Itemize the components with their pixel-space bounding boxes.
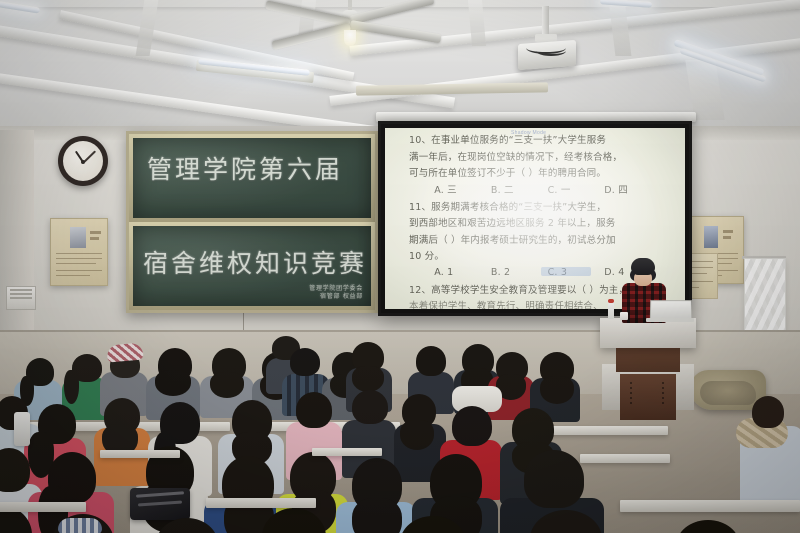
desk bbox=[100, 450, 180, 458]
poster-text-line bbox=[56, 263, 96, 264]
clock-center bbox=[81, 160, 85, 164]
slide-option: A. 1 bbox=[434, 265, 491, 280]
blackboard: 管理学院第六届 宿舍维权知识竞赛 管理学院团学委会 宿管部 权益部 bbox=[126, 131, 378, 313]
breaker-slot bbox=[10, 297, 32, 299]
poster-title-bar bbox=[723, 236, 731, 239]
water-bottle-cap bbox=[608, 299, 614, 303]
blackboard-frame-top: 管理学院第六届 bbox=[129, 134, 375, 222]
blackboard-panel-bottom: 宿舍维权知识竞赛 管理学院团学委会 宿管部 权益部 bbox=[133, 226, 371, 306]
slide-selection-highlight bbox=[541, 267, 591, 275]
breaker-slot bbox=[10, 289, 32, 291]
podium-laptop-base bbox=[646, 318, 694, 322]
light-fixture-frame bbox=[356, 82, 548, 95]
poster-portrait-photo bbox=[704, 226, 718, 248]
desk bbox=[206, 498, 316, 508]
blackboard-headline: 管理学院第六届 bbox=[147, 150, 343, 186]
audience-cap bbox=[106, 342, 143, 362]
slide-option: C. 一 bbox=[548, 183, 605, 198]
fan-light bbox=[344, 30, 356, 46]
audience bbox=[0, 330, 800, 533]
poster-title-bar bbox=[90, 231, 101, 234]
poster-text-line bbox=[56, 258, 102, 259]
slide-line: 满一年后，在现岗位空缺的情况下，经考核合格， bbox=[409, 150, 661, 165]
wall-poster-left bbox=[50, 218, 108, 286]
blackboard-signature-line2: 宿管部 权益部 bbox=[309, 293, 363, 301]
fan-rod bbox=[348, 0, 352, 10]
ceiling-rib bbox=[685, 60, 725, 120]
ceiling-rib bbox=[136, 0, 159, 56]
slide-options-q10: A. 三 B. 二 C. 一 D. 四 bbox=[409, 183, 661, 198]
slide-option: B. 2 bbox=[491, 265, 548, 280]
desk bbox=[548, 426, 668, 435]
blackboard-signature: 管理学院团学委会 宿管部 权益部 bbox=[309, 285, 363, 301]
poster-text-line bbox=[56, 253, 102, 254]
slide-option: A. 三 bbox=[434, 183, 491, 198]
blackboard-signature-line1: 管理学院团学委会 bbox=[309, 285, 363, 293]
audience-headband bbox=[58, 518, 102, 533]
fan-blade bbox=[349, 20, 441, 43]
breaker-slot bbox=[10, 293, 32, 295]
desk bbox=[0, 502, 86, 512]
clock-face bbox=[63, 141, 103, 181]
projector-mount bbox=[542, 6, 549, 36]
lecture-hall-photo: 管理学院第六届 宿舍维权知识竞赛 管理学院团学委会 宿管部 权益部 Shadow… bbox=[0, 0, 800, 533]
ceiling-rib bbox=[609, 0, 632, 56]
water-bottle bbox=[608, 301, 614, 319]
blackboard-subhead: 宿舍维权知识竞赛 bbox=[143, 244, 367, 280]
slide-line: 期满后（ ）年内报考硕士研究生的，初试总分加 bbox=[409, 233, 661, 248]
slide-option: D. 四 bbox=[604, 183, 661, 198]
slide-line: 11、服务期满考核合格的“三支一扶”大学生， bbox=[409, 200, 661, 215]
slide-line: 10、在事业单位服务的“三支一扶”大学生服务 bbox=[409, 133, 661, 148]
poster-text-line bbox=[56, 275, 90, 276]
desk bbox=[620, 500, 800, 512]
slide-line: 可与所在单位签订不少于（ ）年的聘用合同。 bbox=[409, 166, 661, 181]
thermos bbox=[14, 412, 30, 446]
presenter-beanie bbox=[631, 258, 655, 275]
poster-title-bar bbox=[90, 237, 99, 240]
poster-title-bar bbox=[723, 230, 733, 233]
poster-portrait-photo bbox=[70, 227, 86, 248]
electrical-panel[interactable] bbox=[6, 286, 36, 310]
desk bbox=[580, 454, 670, 463]
blackboard-panel-top: 管理学院第六届 bbox=[133, 138, 371, 218]
blackboard-frame-bottom: 宿舍维权知识竞赛 管理学院团学委会 宿管部 权益部 bbox=[129, 222, 375, 310]
slide-line: 到西部地区和艰苦边远地区服务 2 年以上，服务 bbox=[409, 216, 661, 231]
slide-option: B. 二 bbox=[491, 183, 548, 198]
cup bbox=[620, 312, 628, 320]
left-wall-return bbox=[0, 130, 34, 360]
wall-clock bbox=[58, 136, 108, 186]
desk bbox=[312, 448, 382, 456]
poster-text-line bbox=[56, 270, 102, 271]
projector-cable bbox=[536, 46, 566, 56]
